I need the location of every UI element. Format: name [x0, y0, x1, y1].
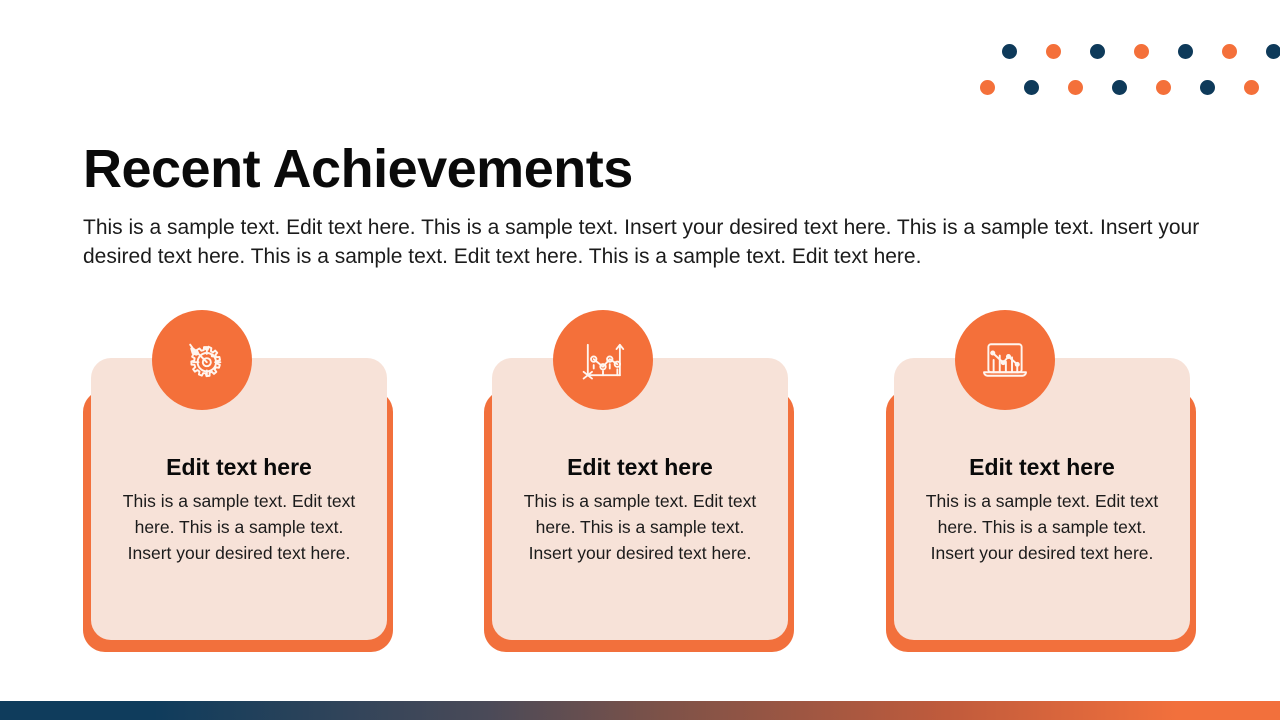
achievement-card-2[interactable]: Edit text here This is a sample text. Ed… — [484, 310, 796, 620]
slide-subtitle: This is a sample text. Edit text here. T… — [83, 213, 1218, 271]
decorative-dot — [1068, 80, 1083, 95]
card-heading: Edit text here — [111, 454, 367, 482]
decorative-dot — [1178, 44, 1193, 59]
card-body: Edit text here This is a sample text. Ed… — [91, 358, 387, 640]
gear-target-icon — [152, 310, 252, 410]
decorative-dot — [1200, 80, 1215, 95]
card-body: Edit text here This is a sample text. Ed… — [894, 358, 1190, 640]
decorative-dot — [1090, 44, 1105, 59]
card-text: This is a sample text. Edit text here. T… — [914, 488, 1170, 566]
laptop-chart-icon — [955, 310, 1055, 410]
card-body: Edit text here This is a sample text. Ed… — [492, 358, 788, 640]
page-title: Recent Achievements — [83, 140, 633, 199]
card-text: This is a sample text. Edit text here. T… — [512, 488, 768, 566]
decorative-dot-grid — [980, 44, 1280, 102]
line-chart-icon — [553, 310, 653, 410]
decorative-dot — [1002, 44, 1017, 59]
cards-row: Edit text here This is a sample text. Ed… — [0, 310, 1280, 670]
decorative-dot — [1112, 80, 1127, 95]
footer-gradient-bar — [0, 701, 1280, 720]
card-text: This is a sample text. Edit text here. T… — [111, 488, 367, 566]
card-heading: Edit text here — [914, 454, 1170, 482]
decorative-dot — [1222, 44, 1237, 59]
card-heading: Edit text here — [512, 454, 768, 482]
decorative-dot — [1046, 44, 1061, 59]
decorative-dot — [1156, 80, 1171, 95]
decorative-dot — [1024, 80, 1039, 95]
decorative-dot — [1244, 80, 1259, 95]
decorative-dot — [980, 80, 995, 95]
decorative-dot — [1266, 44, 1280, 59]
achievement-card-1[interactable]: Edit text here This is a sample text. Ed… — [83, 310, 395, 620]
decorative-dot — [1134, 44, 1149, 59]
achievement-card-3[interactable]: Edit text here This is a sample text. Ed… — [886, 310, 1198, 620]
